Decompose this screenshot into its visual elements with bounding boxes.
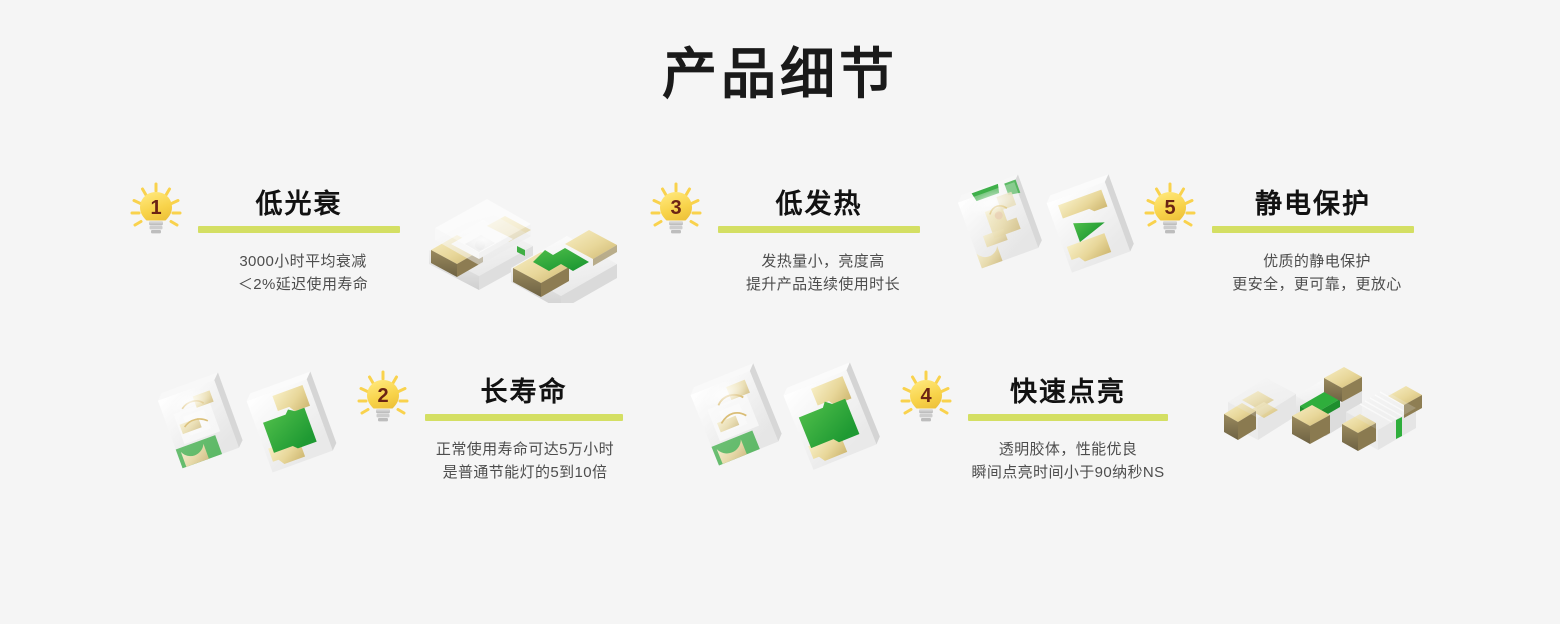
feature-4-description: 透明胶体，性能优良 瞬间点亮时间小于90纳秒NS (943, 438, 1193, 484)
feature-5-desc-line-1: 优质的静电保护 (1197, 250, 1437, 273)
product-detail-infographic: 产品细节 (0, 0, 1560, 624)
lightbulb-icon: 2 (355, 370, 411, 428)
feature-5-underline (1212, 226, 1414, 233)
feature-4-title: 快速点亮 (968, 376, 1168, 408)
feature-block-3: 3 低发热 发热量小，亮度高 提升产品连续使用时长 (648, 182, 938, 240)
product-image-1 (415, 178, 630, 308)
feature-1-underline (198, 226, 400, 233)
feature-2-underline (425, 414, 623, 421)
bulb-number: 1 (150, 197, 161, 219)
feature-block-5: 5 静电保护 优质的静电保护 更安全，更可靠，更放心 (1142, 182, 1432, 240)
lightbulb-icon: 4 (898, 370, 954, 428)
feature-5-description: 优质的静电保护 更安全，更可靠，更放心 (1197, 250, 1437, 296)
feature-4-desc-line-1: 透明胶体，性能优良 (943, 438, 1193, 461)
feature-2-desc-line-1: 正常使用寿命可达5万小时 (400, 438, 650, 461)
product-image-2 (145, 358, 340, 483)
feature-1-header: 1 低光衰 (128, 182, 418, 240)
feature-3-description: 发热量小，亮度高 提升产品连续使用时长 (708, 250, 938, 296)
lightbulb-icon: 3 (648, 182, 704, 240)
feature-3-underline (718, 226, 920, 233)
lightbulb-icon: 1 (128, 182, 184, 240)
feature-1-desc-line-2: ＜2%延迟使用寿命 (188, 273, 418, 296)
lightbulb-icon: 5 (1142, 182, 1198, 240)
feature-block-2: 2 长寿命 正常使用寿命可达5万小时 是普通节能灯的5到10倍 (355, 370, 645, 428)
feature-block-1: 1 低光衰 3000小时平均衰减 ＜2%延迟使用寿命 (128, 182, 418, 240)
page-title: 产品细节 (0, 42, 1560, 106)
feature-4-desc-line-2: 瞬间点亮时间小于90纳秒NS (943, 461, 1193, 484)
feature-1-title: 低光衰 (198, 188, 400, 220)
feature-3-desc-line-2: 提升产品连续使用时长 (708, 273, 938, 296)
product-image-4 (678, 350, 893, 485)
feature-4-underline (968, 414, 1168, 421)
feature-3-desc-line-1: 发热量小，亮度高 (708, 250, 938, 273)
bulb-number: 4 (920, 385, 932, 407)
feature-3-header: 3 低发热 (648, 182, 938, 240)
product-image-5 (1218, 352, 1428, 482)
feature-5-header: 5 静电保护 (1142, 182, 1432, 240)
feature-2-title: 长寿命 (425, 376, 623, 408)
bulb-number: 3 (670, 197, 681, 219)
feature-block-4: 4 快速点亮 透明胶体，性能优良 瞬间点亮时间小于90纳秒NS (898, 370, 1188, 428)
product-image-3 (945, 160, 1140, 285)
feature-1-desc-line-1: 3000小时平均衰减 (188, 250, 418, 273)
feature-5-title: 静电保护 (1212, 188, 1414, 220)
bulb-number: 5 (1164, 197, 1175, 219)
feature-2-description: 正常使用寿命可达5万小时 是普通节能灯的5到10倍 (400, 438, 650, 484)
feature-2-header: 2 长寿命 (355, 370, 645, 428)
feature-5-desc-line-2: 更安全，更可靠，更放心 (1197, 273, 1437, 296)
feature-2-desc-line-2: 是普通节能灯的5到10倍 (400, 461, 650, 484)
bulb-number: 2 (377, 385, 388, 407)
feature-1-description: 3000小时平均衰减 ＜2%延迟使用寿命 (188, 250, 418, 296)
feature-4-header: 4 快速点亮 (898, 370, 1188, 428)
feature-3-title: 低发热 (718, 188, 920, 220)
